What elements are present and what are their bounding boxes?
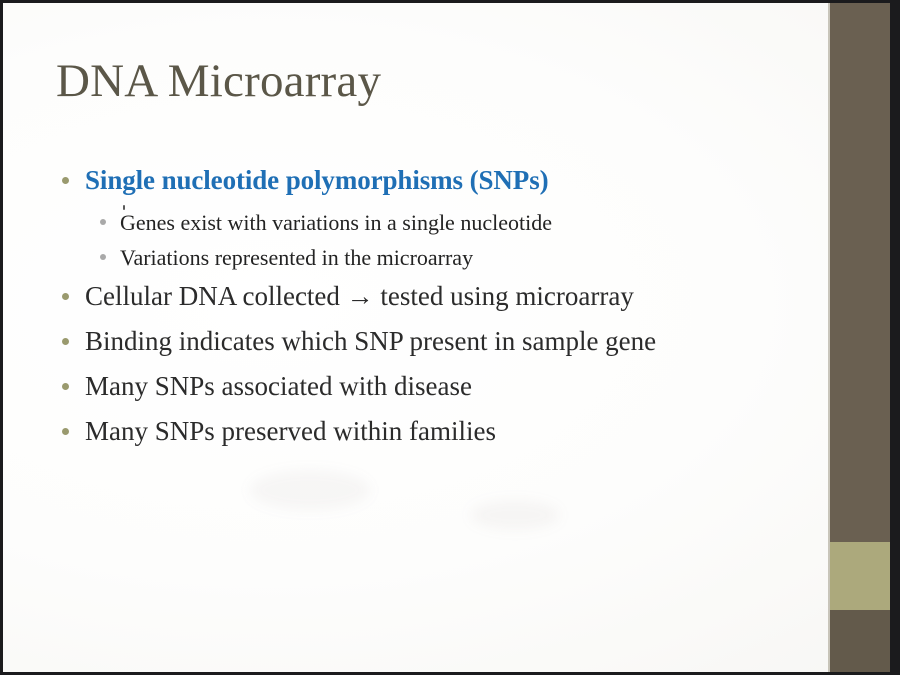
list-item-label: Cellular DNA collected → tested using mi… bbox=[85, 276, 634, 318]
list-item-label: Many SNPs preserved within families bbox=[85, 411, 496, 453]
slide-edge-right bbox=[890, 0, 900, 675]
bullet-dot-icon bbox=[62, 293, 69, 300]
list-item-label: Genes exist with variations in a single … bbox=[120, 205, 552, 241]
list-item: Many SNPs preserved within families bbox=[62, 411, 822, 453]
sidebar-band-khaki-accent bbox=[830, 542, 890, 610]
scan-artifact-speck bbox=[123, 205, 125, 210]
bullet-dot-icon bbox=[62, 428, 69, 435]
presentation-slide: DNA Microarray Single nucleotide polymor… bbox=[0, 0, 900, 675]
list-item: Many SNPs associated with disease bbox=[62, 366, 822, 408]
list-item-label: Binding indicates which SNP present in s… bbox=[85, 321, 656, 363]
slide-edge-left bbox=[0, 0, 3, 675]
list-item: Cellular DNA collected → tested using mi… bbox=[62, 276, 822, 318]
sidebar-band-lower-brown bbox=[830, 610, 890, 675]
list-item-label: Many SNPs associated with disease bbox=[85, 366, 472, 408]
bullet-dot-icon bbox=[62, 338, 69, 345]
sidebar-band-upper-brown bbox=[830, 0, 890, 542]
slide-title: DNA Microarray bbox=[56, 56, 381, 107]
list-item-label: Variations represented in the microarray bbox=[120, 240, 473, 276]
bullet-dot-icon bbox=[62, 383, 69, 390]
slide-edge-top bbox=[0, 0, 900, 3]
bullet-dot-icon bbox=[100, 219, 106, 225]
list-item: Variations represented in the microarray bbox=[100, 240, 822, 276]
bullet-dot-icon bbox=[100, 254, 106, 260]
background-smudge bbox=[470, 500, 560, 530]
list-item: Binding indicates which SNP present in s… bbox=[62, 321, 822, 363]
slide-decorative-sidebar bbox=[830, 0, 890, 675]
slide-body-list: Single nucleotide polymorphisms (SNPs) G… bbox=[62, 160, 822, 455]
list-item-label: Single nucleotide polymorphisms (SNPs) bbox=[85, 160, 549, 202]
bullet-dot-icon bbox=[62, 177, 69, 184]
list-item: Genes exist with variations in a single … bbox=[100, 205, 822, 241]
background-smudge bbox=[250, 470, 370, 510]
list-item: Single nucleotide polymorphisms (SNPs) bbox=[62, 160, 822, 202]
